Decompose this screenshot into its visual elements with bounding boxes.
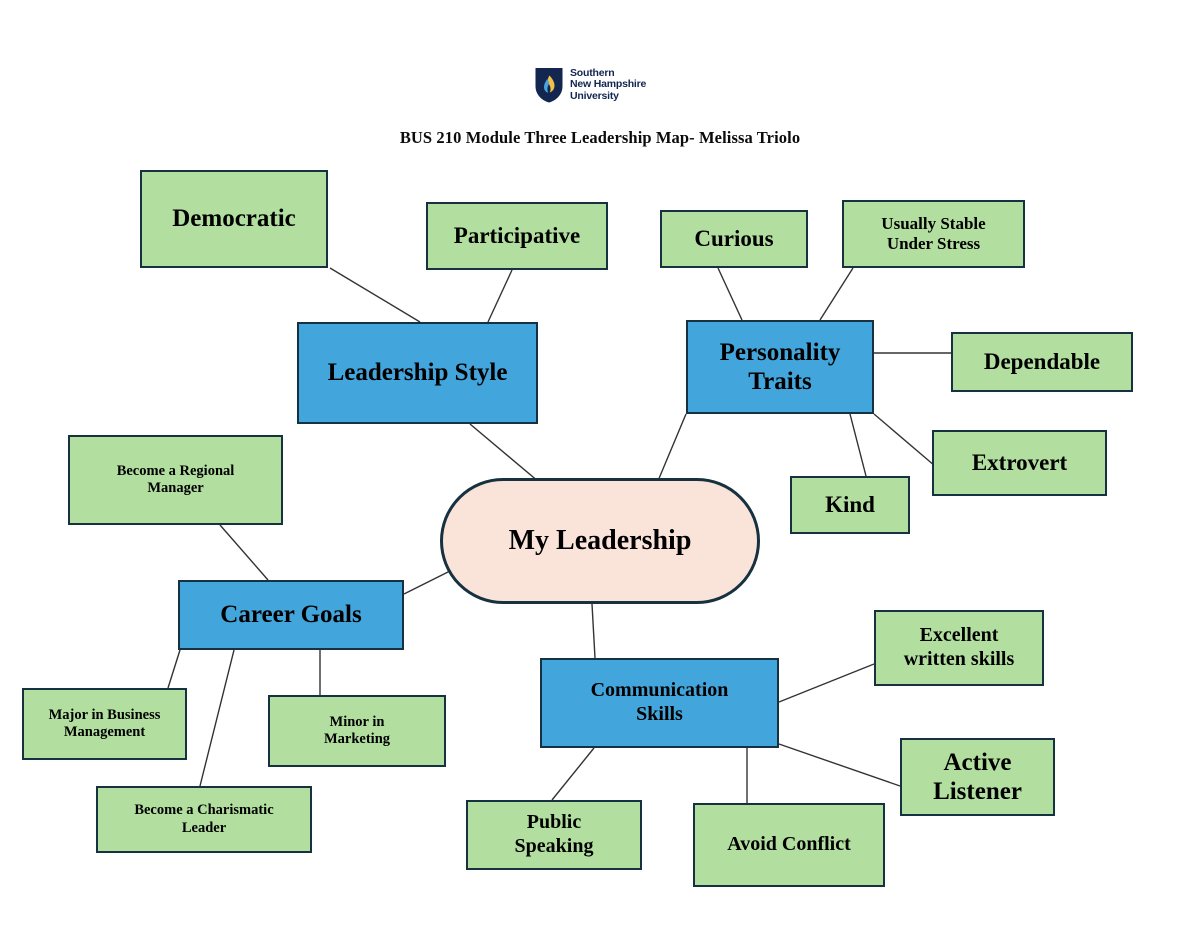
edge-democratic	[330, 268, 420, 322]
snhu-logo: Southern New Hampshire University	[534, 62, 670, 108]
edge-usually-stable	[820, 268, 853, 320]
node-public-speaking[interactable]: Public Speaking	[466, 800, 642, 870]
edge-regional-manager	[220, 525, 268, 580]
node-excellent-written-skills[interactable]: Excellent written skills	[874, 610, 1044, 686]
node-kind[interactable]: Kind	[790, 476, 910, 534]
edge-written-skills	[779, 664, 874, 702]
logo-line-2: New Hampshire	[570, 79, 646, 90]
node-minor-in-marketing[interactable]: Minor in Marketing	[268, 695, 446, 767]
node-become-a-charismatic-leader[interactable]: Become a Charismatic Leader	[96, 786, 312, 853]
node-democratic[interactable]: Democratic	[140, 170, 328, 268]
branch-node-career-goals[interactable]: Career Goals	[178, 580, 404, 650]
leadership-map-canvas: Southern New Hampshire University BUS 21…	[0, 0, 1200, 927]
edge-extrovert	[874, 414, 935, 466]
node-usually-stable-under-stress[interactable]: Usually Stable Under Stress	[842, 200, 1025, 268]
logo-line-3: University	[570, 91, 646, 102]
edge-active-listener	[779, 744, 900, 786]
node-become-a-regional-manager[interactable]: Become a Regional Manager	[68, 435, 283, 525]
node-major-in-business-management[interactable]: Major in Business Management	[22, 688, 187, 760]
edge-kind	[850, 414, 866, 476]
center-node-my-leadership[interactable]: My Leadership	[440, 478, 760, 604]
node-avoid-conflict[interactable]: Avoid Conflict	[693, 803, 885, 887]
edge-public-speaking	[552, 748, 594, 800]
node-curious[interactable]: Curious	[660, 210, 808, 268]
edge-major-business	[168, 650, 180, 688]
node-extrovert[interactable]: Extrovert	[932, 430, 1107, 496]
edge-curious	[718, 268, 742, 320]
edge-center-communication-skills	[592, 604, 595, 658]
snhu-logo-text: Southern New Hampshire University	[570, 68, 646, 102]
edge-center-personality-traits	[655, 414, 686, 488]
page-title: BUS 210 Module Three Leadership Map- Mel…	[0, 128, 1200, 148]
edge-charismatic-leader	[200, 650, 234, 786]
edge-participative	[488, 270, 512, 322]
node-dependable[interactable]: Dependable	[951, 332, 1133, 392]
branch-node-personality-traits[interactable]: Personality Traits	[686, 320, 874, 414]
node-active-listener[interactable]: Active Listener	[900, 738, 1055, 816]
branch-node-communication-skills[interactable]: Communication Skills	[540, 658, 779, 748]
branch-node-leadership-style[interactable]: Leadership Style	[297, 322, 538, 424]
node-participative[interactable]: Participative	[426, 202, 608, 270]
edge-center-career-goals	[404, 570, 452, 594]
snhu-shield-flame-icon	[534, 66, 564, 104]
